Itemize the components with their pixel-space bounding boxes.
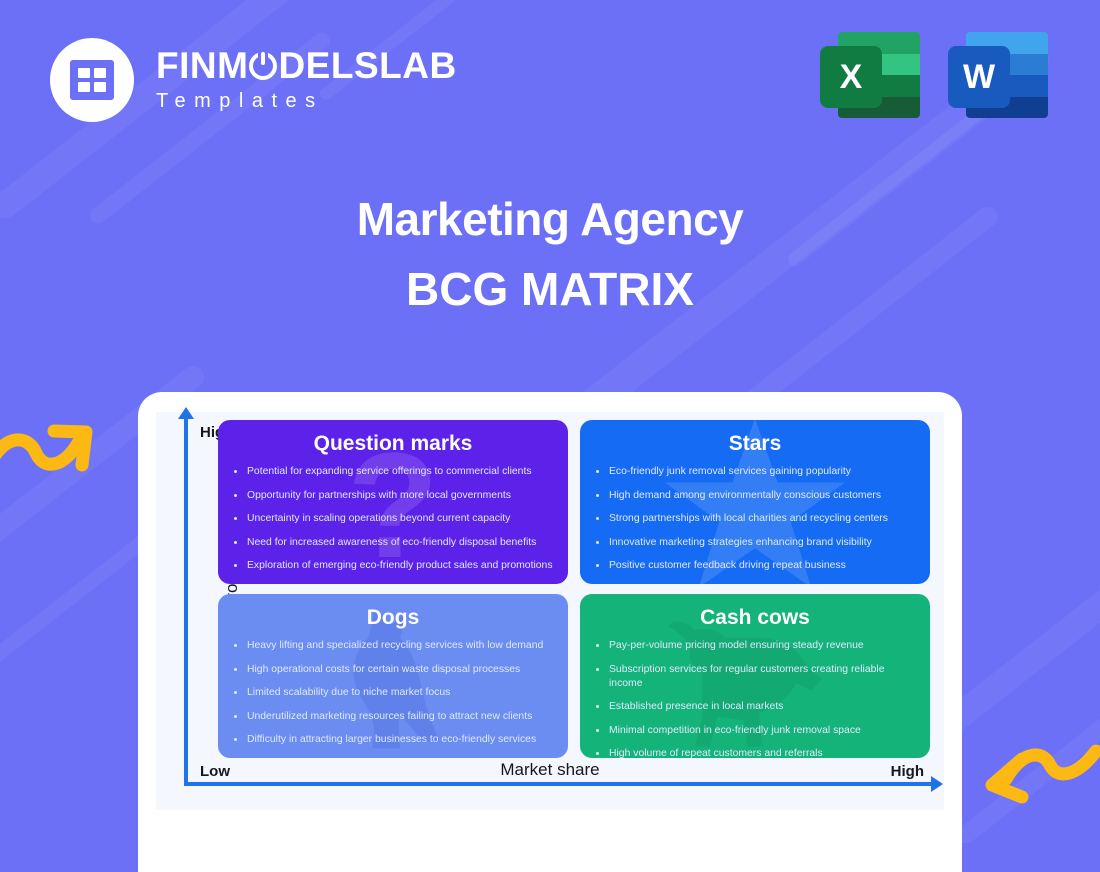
quadrant-grid: ? Question marks Potential for expanding…: [218, 420, 930, 758]
quadrant-title: Cash cows: [594, 606, 916, 630]
quadrant-title: Question marks: [232, 432, 554, 456]
logo-wordmark: FINM DELSLAB: [156, 47, 457, 86]
quadrant-cash-cows[interactable]: Cash cows Pay-per-volume pricing model e…: [580, 594, 930, 758]
logo-tagline: Templates: [156, 90, 457, 113]
word-icon: W: [948, 26, 1048, 124]
list-item: Positive customer feedback driving repea…: [594, 559, 916, 573]
page-title: Marketing Agency BCG MATRIX: [0, 193, 1100, 317]
excel-icon: X: [820, 26, 920, 124]
list-item: Need for increased awareness of eco-frie…: [232, 536, 554, 550]
quadrant-dogs[interactable]: Dogs Heavy lifting and specialized recyc…: [218, 594, 568, 758]
quadrant-title: Dogs: [232, 606, 554, 630]
list-item: High volume of repeat customers and refe…: [594, 747, 916, 758]
office-icons: X W: [820, 26, 1048, 124]
y-axis: [184, 418, 188, 782]
list-item: High operational costs for certain waste…: [232, 663, 554, 677]
list-item: Potential for expanding service offering…: [232, 465, 554, 479]
list-item: Opportunity for partnerships with more l…: [232, 489, 554, 503]
quadrant-bullet-list: Pay-per-volume pricing model ensuring st…: [594, 639, 916, 758]
list-item: Innovative marketing strategies enhancin…: [594, 536, 916, 550]
quadrant-stars[interactable]: Stars Eco-friendly junk removal services…: [580, 420, 930, 584]
excel-icon-letter: X: [820, 46, 882, 108]
list-item: Exploration of emerging eco-friendly pro…: [232, 559, 554, 573]
x-axis-high-label: High: [891, 763, 924, 780]
list-item: Pay-per-volume pricing model ensuring st…: [594, 639, 916, 653]
x-axis: [184, 782, 932, 786]
list-item: High demand among environmentally consci…: [594, 489, 916, 503]
list-item: Minimal competition in eco-friendly junk…: [594, 724, 916, 738]
logo-badge: [50, 38, 134, 122]
logo-wordmark-part2: DELSLAB: [278, 47, 456, 86]
title-line-2: BCG MATRIX: [0, 263, 1100, 316]
quadrant-bullet-list: Potential for expanding service offering…: [232, 465, 554, 573]
bcg-matrix-chart: High Market growth Low Market share High…: [156, 412, 944, 810]
header: FINM DELSLAB Templates X W: [0, 0, 1100, 150]
list-item: Established presence in local markets: [594, 700, 916, 714]
logo-wordmark-part1: FINM: [156, 47, 248, 86]
list-item: Underutilized marketing resources failin…: [232, 710, 554, 724]
list-item: Heavy lifting and specialized recycling …: [232, 639, 554, 653]
list-item: Subscription services for regular custom…: [594, 663, 916, 691]
power-o-icon: [249, 52, 277, 80]
quadrant-question-marks[interactable]: ? Question marks Potential for expanding…: [218, 420, 568, 584]
quadrant-title: Stars: [594, 432, 916, 456]
list-item: Uncertainty in scaling operations beyond…: [232, 512, 554, 526]
word-icon-letter: W: [948, 46, 1010, 108]
quadrant-bullet-list: Eco-friendly junk removal services gaini…: [594, 465, 916, 573]
decorative-arrow-up-right-icon: [0, 405, 128, 485]
brand-logo: FINM DELSLAB Templates: [50, 38, 457, 122]
list-item: Eco-friendly junk removal services gaini…: [594, 465, 916, 479]
x-axis-label: Market share: [500, 760, 599, 780]
list-item: Limited scalability due to niche market …: [232, 686, 554, 700]
list-item: Difficulty in attracting larger business…: [232, 733, 554, 747]
decorative-arrow-down-left-icon: [970, 735, 1100, 815]
quadrant-bullet-list: Heavy lifting and specialized recycling …: [232, 639, 554, 747]
list-item: Strong partnerships with local charities…: [594, 512, 916, 526]
title-line-1: Marketing Agency: [0, 193, 1100, 246]
grid-icon: [70, 60, 114, 100]
matrix-card: High Market growth Low Market share High…: [138, 392, 962, 872]
x-axis-low-label: Low: [200, 763, 230, 780]
